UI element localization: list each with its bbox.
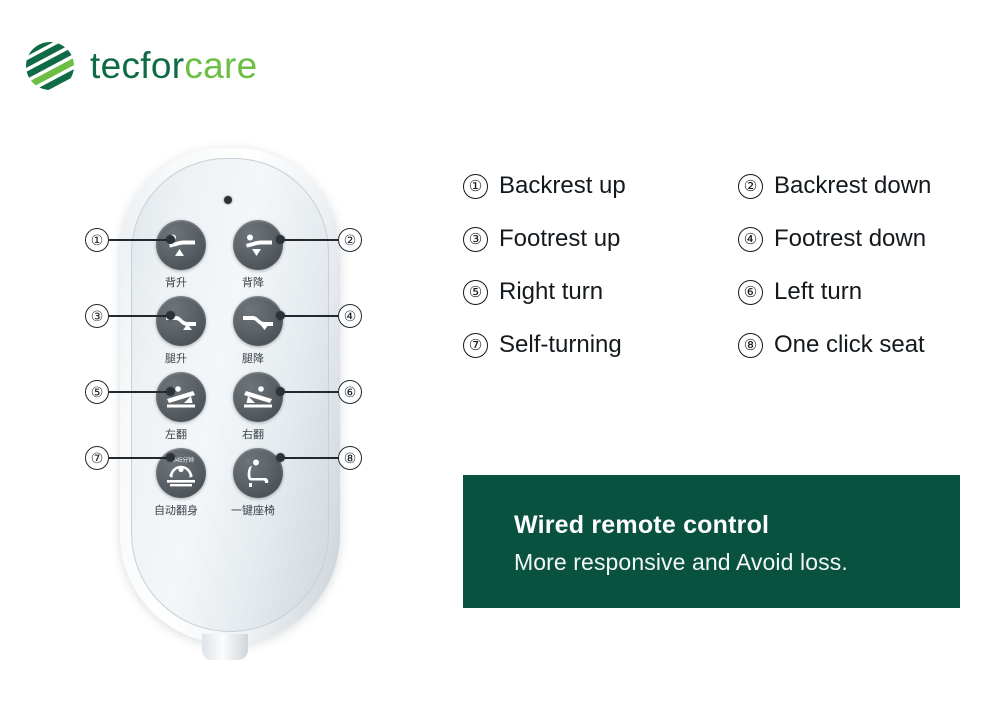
callout-leader-6	[281, 391, 339, 393]
callout-number-7: ⑦	[85, 446, 109, 470]
legend-number-6: ⑥	[738, 280, 763, 305]
callout-leader-3	[109, 315, 171, 317]
legend-label-8: One click seat	[774, 331, 925, 359]
feature-banner: Wired remote control More responsive and…	[463, 475, 960, 608]
legend-label-4: Footrest down	[774, 225, 926, 253]
callout-leader-1	[109, 239, 171, 241]
legend-list: ① Backrest up ② Backrest down ③ Footrest…	[463, 172, 963, 384]
legend-label-3: Footrest up	[499, 225, 620, 253]
legend-label-7: Self-turning	[499, 331, 622, 359]
callout-leader-5	[109, 391, 171, 393]
device-button-backrest-up[interactable]	[156, 220, 206, 270]
led-indicator-icon	[224, 196, 232, 204]
legend-row: ③ Footrest up ④ Footrest down	[463, 225, 963, 253]
callout-number-1: ①	[85, 228, 109, 252]
device-button-caption-4: 腿降	[208, 350, 298, 366]
brand-logo: tecforcare	[24, 40, 258, 92]
callout-anchor-5	[166, 387, 175, 396]
callout-anchor-4	[276, 311, 285, 320]
legend-number-2: ②	[738, 174, 763, 199]
brand-name-part1: tecfor	[90, 45, 184, 86]
callout-number-8: ⑧	[338, 446, 362, 470]
legend-number-3: ③	[463, 227, 488, 252]
legend-item-backrest-up: ① Backrest up	[463, 172, 738, 200]
device-button-caption-8: 一键座椅	[208, 502, 298, 518]
legend-label-2: Backrest down	[774, 172, 931, 200]
brand-name: tecforcare	[90, 45, 258, 87]
legend-row: ① Backrest up ② Backrest down	[463, 172, 963, 200]
callout-anchor-3	[166, 311, 175, 320]
legend-number-1: ①	[463, 174, 488, 199]
callout-anchor-1	[166, 235, 175, 244]
callout-leader-4	[281, 315, 339, 317]
callout-leader-7	[109, 457, 171, 459]
brand-name-part2: care	[184, 45, 257, 86]
legend-number-8: ⑧	[738, 333, 763, 358]
legend-item-self-turning: ⑦ Self-turning	[463, 331, 738, 359]
callout-number-6: ⑥	[338, 380, 362, 404]
legend-item-backrest-down: ② Backrest down	[738, 172, 963, 200]
legend-label-6: Left turn	[774, 278, 862, 306]
device-button-self-turning[interactable]: 30/45分钟	[156, 448, 206, 498]
device-button-footrest-up[interactable]	[156, 296, 206, 346]
legend-item-one-click-seat: ⑧ One click seat	[738, 331, 963, 359]
remote-control-device: 背升 背降 腿升 腿降	[120, 148, 340, 648]
legend-label-1: Backrest up	[499, 172, 626, 200]
legend-item-footrest-up: ③ Footrest up	[463, 225, 738, 253]
legend-item-right-turn: ⑤ Right turn	[463, 278, 738, 306]
callout-anchor-7	[166, 453, 175, 462]
device-button-right-turn[interactable]	[233, 372, 283, 422]
legend-number-7: ⑦	[463, 333, 488, 358]
device-button-caption-6: 右翻	[208, 426, 298, 442]
legend-label-5: Right turn	[499, 278, 603, 306]
product-infographic: tecforcare 背升 背降	[0, 0, 1000, 712]
callout-anchor-2	[276, 235, 285, 244]
callout-anchor-8	[276, 453, 285, 462]
feature-banner-subtitle: More responsive and Avoid loss.	[514, 549, 960, 576]
callout-anchor-6	[276, 387, 285, 396]
remote-cord-stub	[202, 634, 248, 660]
legend-number-4: ④	[738, 227, 763, 252]
callout-leader-2	[281, 239, 339, 241]
callout-number-3: ③	[85, 304, 109, 328]
legend-number-5: ⑤	[463, 280, 488, 305]
device-button-footrest-down[interactable]	[233, 296, 283, 346]
callout-number-5: ⑤	[85, 380, 109, 404]
legend-item-footrest-down: ④ Footrest down	[738, 225, 963, 253]
legend-item-left-turn: ⑥ Left turn	[738, 278, 963, 306]
device-button-caption-2: 背降	[208, 274, 298, 290]
legend-row: ⑦ Self-turning ⑧ One click seat	[463, 331, 963, 359]
device-button-left-turn[interactable]	[156, 372, 206, 422]
feature-banner-title: Wired remote control	[514, 511, 960, 540]
device-button-backrest-down[interactable]	[233, 220, 283, 270]
callout-number-2: ②	[338, 228, 362, 252]
legend-row: ⑤ Right turn ⑥ Left turn	[463, 278, 963, 306]
callout-number-4: ④	[338, 304, 362, 328]
striped-circle-logo-icon	[24, 40, 76, 92]
callout-leader-8	[281, 457, 339, 459]
